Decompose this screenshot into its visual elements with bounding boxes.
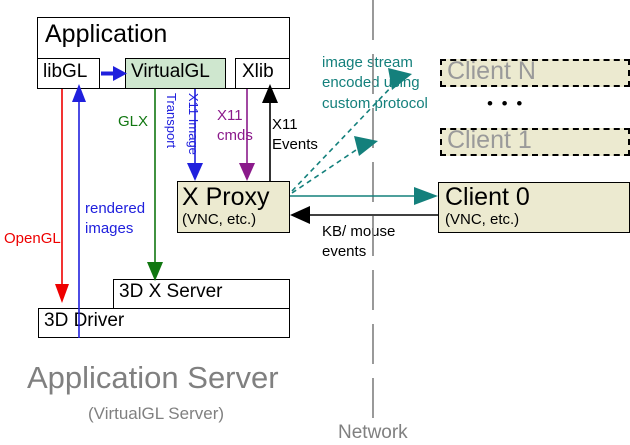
rendered-images-arrowhead [72, 84, 86, 102]
libgl-to-virtualgl-arrowhead [113, 66, 127, 81]
connector-overlay [0, 0, 630, 445]
x11-cmds-arrowhead [239, 163, 255, 181]
client0-to-xproxy-arrowhead [290, 206, 310, 224]
opengl-arrowhead [55, 284, 69, 303]
x11-image-transport-arrowhead [187, 163, 203, 181]
xproxy-to-client1-arrowhead [354, 136, 378, 156]
diagram-canvas: Application libGL VirtualGL Xlib X Proxy… [0, 0, 630, 445]
x11-events-arrowhead [262, 84, 278, 103]
xproxy-to-clientn-arrowhead [388, 68, 412, 90]
xproxy-to-client0-arrowhead [414, 187, 438, 205]
xproxy-to-client1-line [292, 146, 362, 193]
glx-arrowhead [147, 262, 163, 281]
xproxy-to-clientn-line [292, 82, 396, 191]
